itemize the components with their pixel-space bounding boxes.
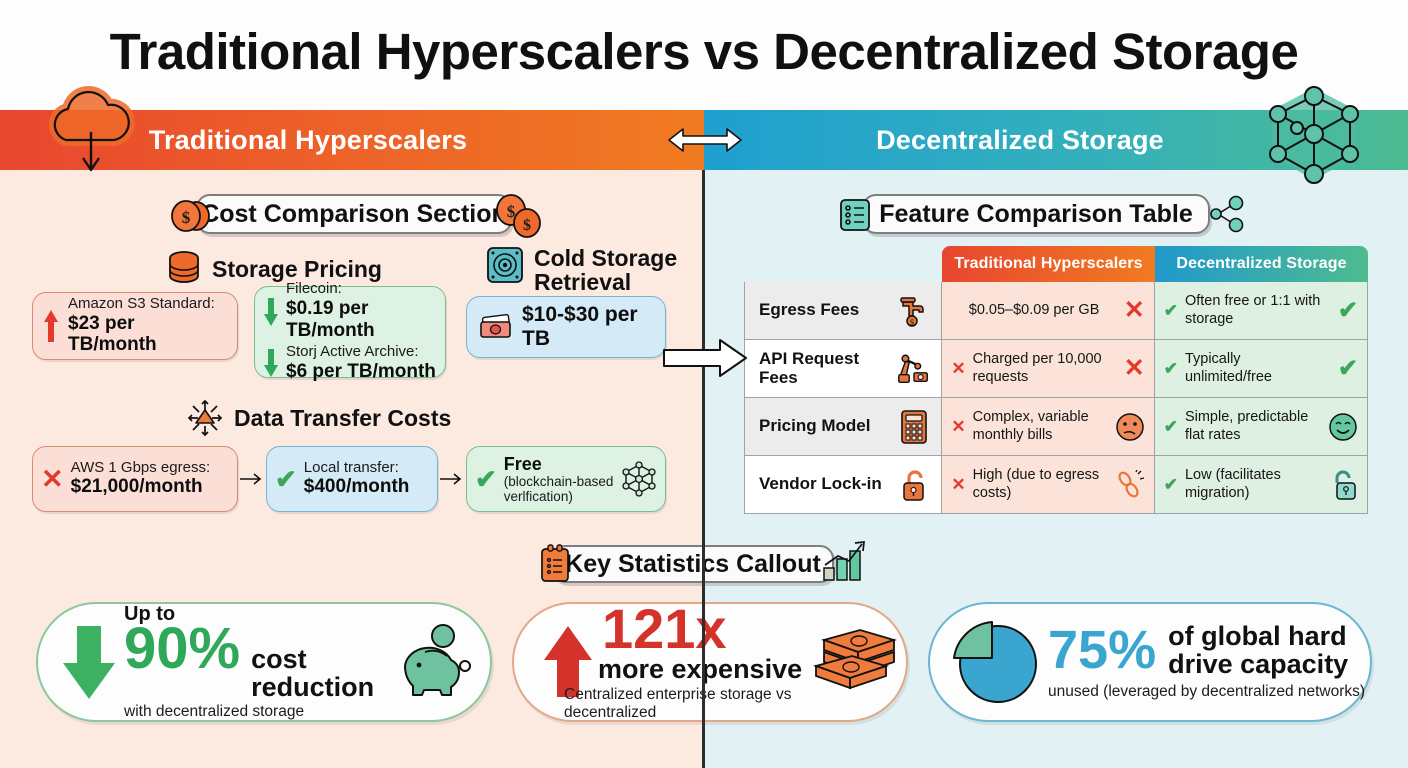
database-icon — [166, 250, 202, 288]
table-cell-traditional: $0.05–$0.09 per GB ✕ — [942, 282, 1154, 339]
filecoin-line2: $0.19 per TB/month — [286, 298, 437, 342]
dec-text: Low (facilitates migration) — [1185, 467, 1321, 502]
calculator-icon — [899, 409, 929, 445]
table-row[interactable]: Egress Fees $ $0.05–$0.09 per GB ✕ ✔ Oft… — [744, 282, 1368, 340]
aws-storage-price-card[interactable]: Amazon S3 Standard: $23 per TB/month — [32, 292, 238, 360]
center-divider — [702, 170, 705, 768]
table-cell-traditional: ✕ Complex, variable monthly bills — [942, 398, 1154, 455]
feature-comparison-table: Traditional Hyperscalers Decentralized S… — [744, 246, 1368, 514]
coin-stack-icon: $ — [166, 196, 214, 236]
table-header-traditional: Traditional Hyperscalers — [942, 246, 1155, 282]
table-row[interactable]: API Request Fees ✕ Charged per 10,000 re… — [744, 340, 1368, 398]
network-mesh-icon — [1252, 82, 1376, 186]
data-transfer-label: Data Transfer Costs — [234, 406, 451, 430]
feature-comparison-table-pill: Feature Comparison Table — [862, 194, 1210, 234]
x-mark-icon: ✕ — [951, 360, 965, 377]
key-statistics-label: Key Statistics Callout — [565, 550, 821, 579]
aws-egress-line2: $21,000/month — [71, 476, 211, 498]
money-stacks-icon — [810, 622, 906, 702]
aws-card-line2: $23 per TB/month — [68, 313, 227, 357]
x-mark-icon: ✕ — [951, 476, 965, 493]
trad-text: Complex, variable monthly bills — [973, 409, 1108, 444]
table-cell-traditional: ✕ High (due to egress costs) — [942, 456, 1154, 513]
stat3-main: of global hard drive capacity — [1168, 623, 1360, 678]
free-transfer-line2: (blockchain-based — [504, 474, 614, 489]
table-cell-decentralized: ✔ Typically unlimited/free ✔ — [1155, 340, 1367, 397]
table-row[interactable]: Pricing Model ✕ Complex, variable monthl… — [744, 398, 1368, 456]
free-transfer-card[interactable]: ✔ Free (blockchain-based verlfication) — [466, 446, 666, 512]
flow-arrow-icon — [440, 470, 466, 488]
aws-egress-line1: AWS 1 Gbps egress: — [71, 460, 211, 477]
open-lock-orange-icon — [901, 467, 929, 503]
filecoin-line1: Filecoin: — [286, 281, 437, 298]
confused-face-icon — [1115, 412, 1145, 442]
table-cell-decentralized: ✔ Often free or 1:1 with storage ✔ — [1155, 282, 1367, 339]
check-mark-icon: ✔ — [275, 464, 297, 495]
feature-comparison-table-label: Feature Comparison Table — [879, 200, 1193, 229]
storj-line2: $6 per TB/month — [286, 361, 436, 383]
pie-chart-icon — [948, 614, 1044, 710]
cold-storage-value: $10-$30 per TB — [522, 303, 653, 351]
check-mark-icon: ✔ — [1164, 302, 1178, 319]
svg-text:$: $ — [523, 217, 531, 234]
cold-storage-retrieval-card[interactable]: $10-$30 per TB — [466, 296, 666, 358]
dec-text: Simple, predictable flat rates — [1185, 409, 1321, 444]
table-row-feature: Pricing Model — [745, 398, 942, 455]
arrow-down-green-icon — [60, 623, 118, 701]
table-header-row: Traditional Hyperscalers Decentralized S… — [942, 246, 1368, 282]
flow-arrow-icon — [240, 470, 266, 488]
aws-card-line1: Amazon S3 Standard: — [68, 296, 227, 313]
dec-text: Typically unlimited/free — [1185, 351, 1331, 386]
stat3-value: 75% — [1048, 625, 1156, 676]
free-transfer-line1: Free — [504, 454, 614, 475]
aws-egress-card[interactable]: ✕ AWS 1 Gbps egress: $21,000/month — [32, 446, 238, 512]
cold-storage-label-line2: Retrieval — [534, 270, 677, 294]
x-mark-icon: ✕ — [951, 418, 965, 435]
cloud-download-icon — [36, 84, 146, 176]
stat1-main: cost reduction — [251, 646, 381, 701]
stat-card-cost-reduction[interactable]: Up to 90% cost reduction with decentrali… — [36, 602, 492, 722]
table-cell-decentralized: ✔ Low (facilitates migration) — [1155, 456, 1367, 513]
free-transfer-line3: verlfication) — [504, 489, 614, 504]
stat2-value: 121x — [602, 602, 816, 655]
check-mark-icon: ✔ — [1164, 476, 1178, 493]
piggy-bank-icon — [385, 622, 473, 702]
storage-pricing-label: Storage Pricing — [212, 257, 382, 281]
local-transfer-line2: $400/month — [304, 476, 410, 498]
trad-text: High (due to egress costs) — [973, 467, 1108, 502]
clipboard-icon — [538, 544, 572, 584]
stat-card-hard-drive-capacity[interactable]: 75% of global hard drive capacity unused… — [928, 602, 1372, 722]
check-mark-icon: ✔ — [1164, 418, 1178, 435]
arrow-down-green-icon — [263, 297, 279, 327]
arrow-down-green-icon — [263, 348, 279, 378]
stat1-value: 90% — [124, 622, 240, 675]
x-mark-icon: ✕ — [41, 464, 64, 495]
page-title: Traditional Hyperscalers vs Decentralize… — [0, 22, 1408, 81]
header-right-label: Decentralized Storage — [876, 125, 1164, 156]
svg-text:$: $ — [182, 208, 191, 227]
share-nodes-icon — [1206, 192, 1246, 236]
stat2-main: more expensive — [598, 656, 816, 684]
decentralized-storage-price-card[interactable]: Filecoin: $0.19 per TB/month Storj Activ… — [254, 286, 446, 378]
feature-label: API Request Fees — [759, 350, 895, 387]
check-mark-icon: ✔ — [1164, 360, 1178, 377]
robot-arm-money-icon — [895, 351, 929, 387]
stat1-sub: with decentralized storage — [124, 703, 381, 721]
arrow-up-red-icon — [43, 309, 59, 343]
data-transfer-heading: Data Transfer Costs — [186, 398, 451, 438]
checklist-icon — [838, 198, 872, 232]
table-row[interactable]: Vendor Lock-in ✕ High (due to egress cos… — [744, 456, 1368, 514]
storj-line1: Storj Active Archive: — [286, 344, 436, 361]
smiling-face-icon — [1328, 412, 1358, 442]
x-mark-icon: ✕ — [1124, 298, 1145, 323]
growth-chart-icon — [820, 540, 868, 584]
table-cell-decentralized: ✔ Simple, predictable flat rates — [1155, 398, 1367, 455]
feature-label: Egress Fees — [759, 301, 859, 320]
left-right-arrow-icon — [665, 124, 745, 156]
local-transfer-line1: Local transfer: — [304, 460, 410, 477]
broken-chain-icon — [1115, 470, 1145, 500]
cost-comparison-section-label: Cost Comparison Section — [201, 200, 507, 229]
hard-disk-icon — [486, 246, 524, 284]
cross-panel-arrow-icon — [662, 337, 748, 379]
stat-card-more-expensive[interactable]: 121x more expensive Centralized enterpri… — [512, 602, 908, 722]
check-mark-icon: ✔ — [1338, 357, 1358, 381]
stat2-sub: Centralized enterprise storage vs decent… — [564, 686, 816, 722]
transfer-node-icon — [186, 398, 224, 438]
check-mark-icon: ✔ — [475, 464, 497, 495]
dec-text: Often free or 1:1 with storage — [1185, 293, 1331, 328]
x-mark-icon: ✕ — [1124, 356, 1145, 381]
open-lock-teal-icon — [1328, 468, 1358, 502]
table-header-decentralized: Decentralized Storage — [1155, 246, 1368, 282]
local-transfer-card[interactable]: ✔ Local transfer: $400/month — [266, 446, 438, 512]
table-row-feature: Vendor Lock-in — [745, 456, 942, 513]
check-mark-icon: ✔ — [1338, 299, 1358, 323]
cost-comparison-section-pill: Cost Comparison Section — [196, 194, 512, 234]
svg-text:$: $ — [910, 318, 914, 327]
stat3-sub: unused (leveraged by decentralized netwo… — [1048, 683, 1365, 701]
two-coins-icon: $ $ — [494, 194, 544, 240]
feature-label: Vendor Lock-in — [759, 475, 882, 494]
infographic-canvas: Traditional Hyperscalers vs Decentralize… — [0, 0, 1408, 768]
molecule-icon — [621, 461, 657, 497]
feature-label: Pricing Model — [759, 417, 870, 436]
table-row-feature: API Request Fees — [745, 340, 942, 397]
cash-icon — [479, 314, 513, 340]
key-statistics-pill: Key Statistics Callout — [552, 545, 834, 583]
header-left-label: Traditional Hyperscalers — [149, 125, 467, 156]
table-cell-traditional: ✕ Charged per 10,000 requests ✕ — [942, 340, 1154, 397]
trad-text: $0.05–$0.09 per GB — [951, 302, 1116, 319]
faucet-coin-icon: $ — [895, 294, 929, 328]
trad-text: Charged per 10,000 requests — [973, 351, 1117, 386]
table-row-feature: Egress Fees $ — [745, 282, 942, 339]
cold-storage-label-line1: Cold Storage — [534, 246, 677, 270]
cold-storage-heading: Cold Storage Retrieval — [486, 246, 677, 294]
